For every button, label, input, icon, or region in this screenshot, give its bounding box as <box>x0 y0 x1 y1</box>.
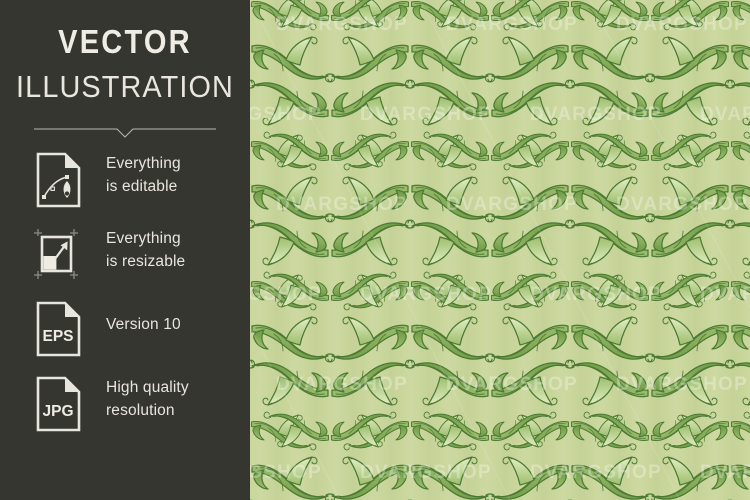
divider <box>34 126 216 140</box>
watermark-text: DVARGSHOP <box>616 14 748 36</box>
feature-label-resizable: Everything is resizable <box>106 227 250 273</box>
divider-notch-icon <box>34 126 216 140</box>
watermark-text: DVARGSHOP <box>360 284 492 306</box>
watermark-text: DVARGSHOP <box>530 104 662 126</box>
info-panel: VECTOR ILLUSTRATION <box>0 0 250 500</box>
watermark-text: DVARGSHOP <box>276 14 408 36</box>
promo-preview-image: VECTOR ILLUSTRATION <box>0 0 750 500</box>
watermark-text: DVARGSHOP <box>360 462 492 484</box>
watermark-text: DVARGSHOP <box>700 284 750 306</box>
watermark-text: DVARGSHOP <box>530 462 662 484</box>
jpg-icon-text: JPG <box>42 403 73 420</box>
panel-title-block: VECTOR ILLUSTRATION <box>0 22 250 108</box>
watermark-text: DVARGSHOP <box>446 374 578 396</box>
feature-row-eps: EPS Version 10 <box>34 301 244 359</box>
page-title-secondary: ILLUSTRATION <box>9 66 242 108</box>
eps-icon-text: EPS <box>42 328 73 345</box>
watermark-text: DVARGSHOP <box>700 462 750 484</box>
feature-label-line1: Everything <box>106 230 181 247</box>
eps-file-icon: EPS <box>34 301 82 357</box>
feature-label-editable: Everything is editable <box>106 152 250 198</box>
feature-label-line1: High quality <box>106 379 189 396</box>
feature-label-line1: Everything <box>106 155 181 172</box>
document-pen-curve-icon <box>34 152 82 208</box>
feature-label-line2: resolution <box>106 402 175 419</box>
feature-label-version: Version 10 <box>106 301 250 336</box>
watermark-text: DVARGSHOP <box>360 104 492 126</box>
feature-row-jpg: JPG High quality resolution <box>34 376 244 434</box>
watermark-layer: DVARGSHOPDVARGSHOPDVARGSHOPDVARGSHOPDVAR… <box>250 0 750 500</box>
watermark-text: DVARGSHOP <box>530 284 662 306</box>
jpg-file-icon: JPG <box>34 376 82 432</box>
resize-arrow-crop-icon <box>34 227 82 283</box>
watermark-text: DVARGSHOP <box>276 374 408 396</box>
watermark-text: DVARGSHOP <box>276 194 408 216</box>
watermark-text: DVARGSHOP <box>250 284 322 306</box>
feature-row-resizable: Everything is resizable <box>34 227 244 285</box>
watermark-text: DVARGSHOP <box>616 194 748 216</box>
watermark-text: DVARGSHOP <box>700 104 750 126</box>
watermark-text: DVARGSHOP <box>446 14 578 36</box>
watermark-text: DVARGSHOP <box>446 194 578 216</box>
watermark-text: DVARGSHOP <box>250 104 322 126</box>
feature-label-quality: High quality resolution <box>106 376 250 422</box>
feature-label-line2: is resizable <box>106 253 185 270</box>
feature-label-line1: Version 10 <box>106 316 181 333</box>
feature-label-line2: is editable <box>106 178 177 195</box>
watermark-text: DVARGSHOP <box>250 462 322 484</box>
feature-row-editable: Everything is editable <box>34 152 244 210</box>
watermark-text: DVARGSHOP <box>616 374 748 396</box>
pattern-preview: DVARGSHOPDVARGSHOPDVARGSHOPDVARGSHOPDVAR… <box>250 0 750 500</box>
page-title-primary: VECTOR <box>15 22 235 62</box>
